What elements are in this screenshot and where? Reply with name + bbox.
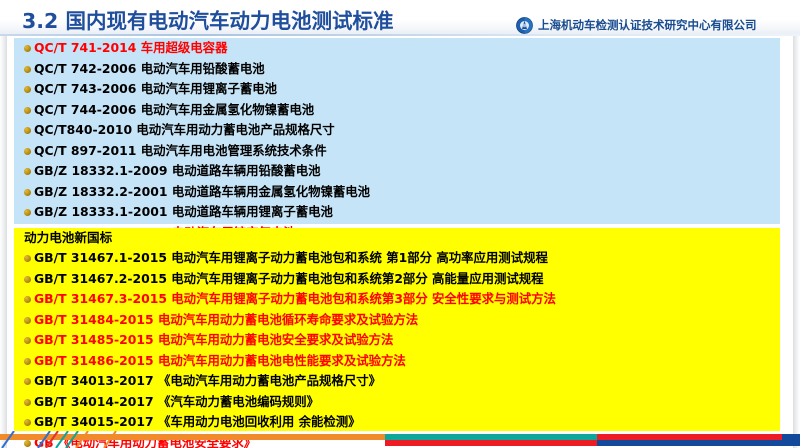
list-item[interactable]: QC/T 743-2006 电动汽车用锂离子蓄电池 [14, 79, 780, 100]
list-item[interactable]: GB/T 31484-2015 电动汽车用动力蓄电池循环寿命要求及试验方法 [14, 310, 780, 331]
company-branding: 上海机动车检测认证技术研究中心有限公司 [516, 17, 757, 34]
list-item[interactable]: GB/Z 18332.2-2001 电动道路车辆用金属氢化物镍蓄电池 [14, 182, 780, 203]
gold-bullet-icon [24, 209, 31, 216]
footer-segment-blue-lower [597, 440, 800, 446]
standard-label: QC/T 897-2011 电动汽车用电池管理系统技术条件 [34, 145, 327, 157]
slide-header: 3.2 国内现有电动汽车动力电池测试标准 上海机动车检测认证技术研究中心有限公司 [0, 0, 800, 36]
list-item[interactable]: QC/T 744-2006 电动汽车用金属氢化物镍蓄电池 [14, 100, 780, 121]
gold-bullet-icon [24, 66, 31, 73]
list-item[interactable]: GB/T 31485-2015 电动汽车用动力蓄电池安全要求及试验方法 [14, 330, 780, 351]
standard-label: GB/T 34013-2017 《电动汽车用动力蓄电池产品规格尺寸》 [34, 375, 381, 387]
standard-label: GB/T 31486-2015 电动汽车用动力蓄电池电性能要求及试验方法 [34, 355, 406, 367]
gold-bullet-icon [24, 45, 31, 52]
list-item[interactable]: GB/T 31467.3-2015 电动汽车用锂离子动力蓄电池包和系统第3部分 … [14, 289, 780, 310]
standard-label: QC/T 743-2006 电动汽车用锂离子蓄电池 [34, 83, 277, 95]
page-title: 3.2 国内现有电动汽车动力电池测试标准 [22, 4, 393, 34]
standard-label: QC/T840-2010 电动汽车用动力蓄电池产品规格尺寸 [34, 124, 335, 136]
gold-bullet-icon [24, 399, 31, 406]
gold-bullet-icon [24, 86, 31, 93]
gold-bullet-icon [24, 168, 31, 175]
gold-bullet-icon [24, 378, 31, 385]
new-standards-panel: 动力电池新国标 GB/T 31467.1-2015 电动汽车用锂离子动力蓄电池包… [14, 228, 780, 431]
standard-label: GB/T 34015-2017 《车用动力电池回收利用 余能检测》 [34, 416, 361, 428]
gold-bullet-icon [24, 127, 31, 134]
footer-diagonal-strokes-icon [0, 431, 200, 448]
right-page-edge [793, 0, 800, 448]
footer-accent-bar [0, 431, 800, 448]
standard-label: GB/Z 18332.1-2009 电动道路车辆用铅酸蓄电池 [34, 165, 321, 177]
company-emblem-icon [516, 17, 533, 34]
list-item[interactable]: QC/T 742-2006 电动汽车用铅酸蓄电池 [14, 59, 780, 80]
gold-bullet-icon [24, 419, 31, 426]
list-item[interactable]: GB/T 31486-2015 电动汽车用动力蓄电池电性能要求及试验方法 [14, 351, 780, 372]
standard-label: GB/T 31467.2-2015 电动汽车用锂离子动力蓄电池包和系统第2部分 … [34, 273, 544, 285]
slide-canvas: 3.2 国内现有电动汽车动力电池测试标准 上海机动车检测认证技术研究中心有限公司… [0, 0, 800, 448]
gold-bullet-icon [24, 255, 31, 262]
list-item[interactable]: QC/T 897-2011 电动汽车用电池管理系统技术条件 [14, 141, 780, 162]
list-item[interactable]: GB/T 34015-2017 《车用动力电池回收利用 余能检测》 [14, 412, 780, 433]
standard-label: GB/T 31467.3-2015 电动汽车用锂离子动力蓄电池包和系统第3部分 … [34, 293, 556, 305]
section-heading-label: 动力电池新国标 [24, 232, 112, 245]
standard-label: QC/T 741-2014 车用超级电容器 [34, 42, 227, 54]
header-divider [0, 34, 800, 36]
new-standards-heading: 动力电池新国标 [14, 228, 780, 248]
standard-label: GB/Z 18333.1-2001 电动道路车辆用锂离子蓄电池 [34, 206, 333, 218]
gold-bullet-icon [24, 189, 31, 196]
gold-bullet-icon [24, 276, 31, 283]
gold-bullet-icon [24, 148, 31, 155]
company-name: 上海机动车检测认证技术研究中心有限公司 [538, 20, 757, 32]
standard-label: GB/T 31485-2015 电动汽车用动力蓄电池安全要求及试验方法 [34, 334, 393, 346]
list-item[interactable]: GB/T 34014-2017 《汽车动力蓄电池编码规则》 [14, 392, 780, 413]
standard-label: QC/T 742-2006 电动汽车用铅酸蓄电池 [34, 63, 265, 75]
gold-bullet-icon [24, 296, 31, 303]
standard-label: GB/T 34014-2017 《汽车动力蓄电池编码规则》 [34, 396, 319, 408]
gold-bullet-icon [24, 337, 31, 344]
list-item[interactable]: QC/T840-2010 电动汽车用动力蓄电池产品规格尺寸 [14, 120, 780, 141]
gold-bullet-icon [24, 317, 31, 324]
list-item[interactable]: GB/T 31467.2-2015 电动汽车用锂离子动力蓄电池包和系统第2部分 … [14, 269, 780, 290]
list-item[interactable]: GB/Z 18333.1-2001 电动道路车辆用锂离子蓄电池 [14, 202, 780, 223]
list-item[interactable]: QC/T 741-2014 车用超级电容器 [14, 38, 780, 59]
list-item[interactable]: GB/T 34013-2017 《电动汽车用动力蓄电池产品规格尺寸》 [14, 371, 780, 392]
standard-label: QC/T 744-2006 电动汽车用金属氢化物镍蓄电池 [34, 104, 314, 116]
gold-bullet-icon [24, 358, 31, 365]
standard-label: GB/T 31484-2015 电动汽车用动力蓄电池循环寿命要求及试验方法 [34, 314, 418, 326]
existing-standards-panel: QC/T 741-2014 车用超级电容器 QC/T 742-2006 电动汽车… [14, 38, 780, 224]
footer-segment-red-lower [385, 440, 597, 446]
left-page-edge [0, 0, 7, 448]
gold-bullet-icon [24, 107, 31, 114]
standard-label: GB/Z 18332.2-2001 电动道路车辆用金属氢化物镍蓄电池 [34, 186, 370, 198]
list-item[interactable]: GB/Z 18332.1-2009 电动道路车辆用铅酸蓄电池 [14, 161, 780, 182]
list-item[interactable]: GB/T 31467.1-2015 电动汽车用锂离子动力蓄电池包和系统 第1部分… [14, 248, 780, 269]
standard-label: GB/T 31467.1-2015 电动汽车用锂离子动力蓄电池包和系统 第1部分… [34, 252, 548, 264]
